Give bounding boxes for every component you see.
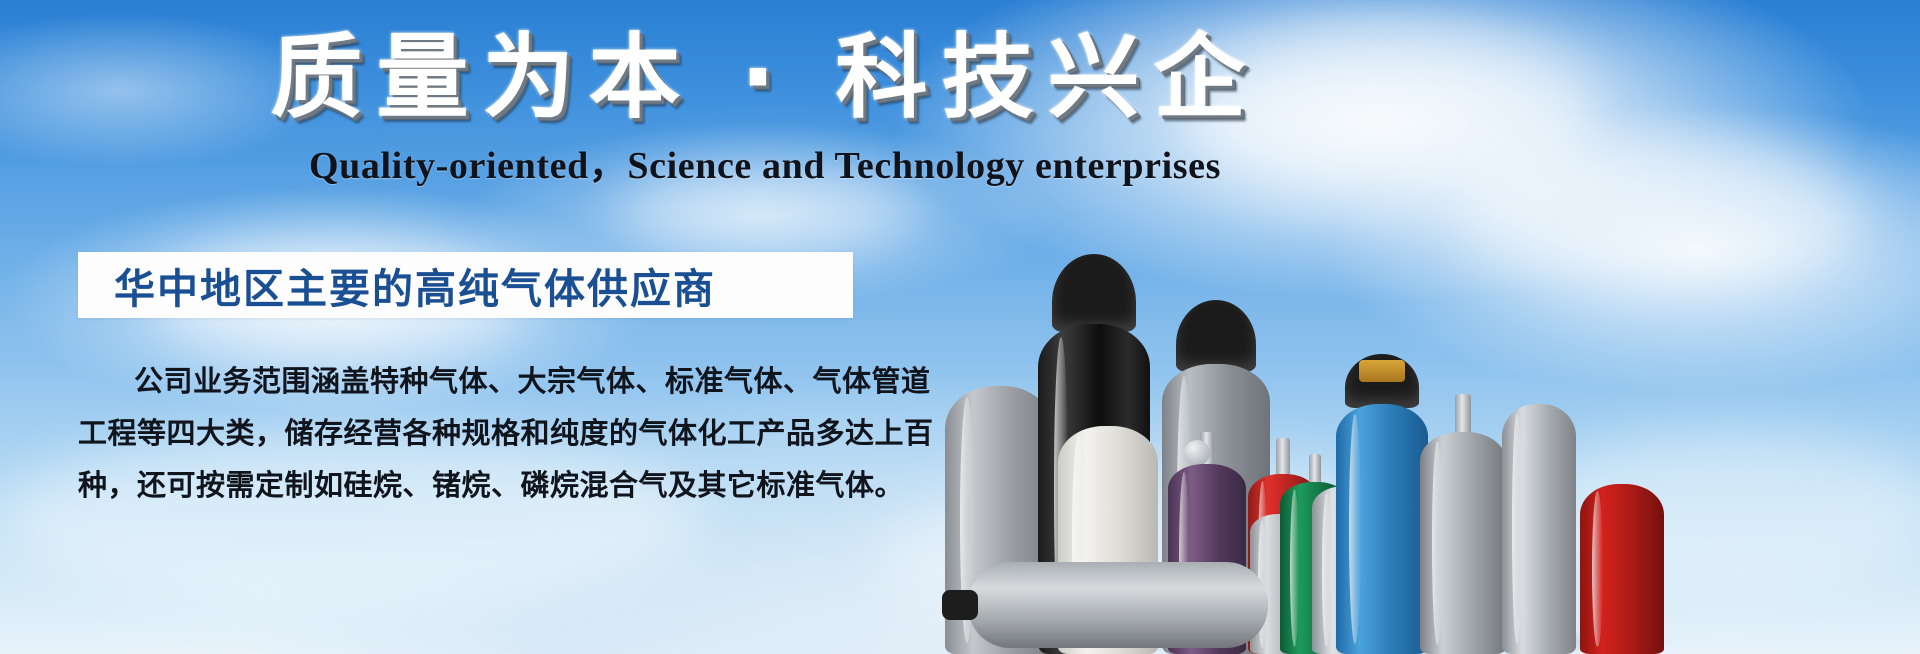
gas-cylinder-photo-group [950, 0, 1920, 654]
description-line: 种，还可按需定制如硅烷、锗烷、磷烷混合气及其它标准气体。 [78, 459, 868, 511]
red-short-cylinder [1580, 484, 1664, 654]
description-line: 公司业务范围涵盖特种气体、大宗气体、标准气体、气体管道 [78, 355, 868, 407]
description-line: 工程等四大类，储存经营各种规格和纯度的气体化工产品多达上百 [78, 407, 868, 459]
cylinder-cap-guard [1176, 300, 1256, 372]
aluminum-tall-cylinder [1502, 404, 1576, 654]
lying-cylinder [968, 562, 1268, 648]
description-paragraph: 公司业务范围涵盖特种气体、大宗气体、标准气体、气体管道 工程等四大类，储存经营各… [78, 355, 868, 511]
callout-box: 华中地区主要的高纯气体供应商 [78, 252, 853, 318]
cylinder-cap-guard [1052, 254, 1136, 332]
cylinder-brass-valve [1359, 360, 1405, 382]
promotional-banner: 质量为本 · 科技兴企 Quality-oriented，Science and… [0, 0, 1920, 654]
blue-tall-cylinder [1336, 324, 1428, 654]
callout-text: 华中地区主要的高纯气体供应商 [78, 255, 716, 315]
cylinder-knob [1184, 440, 1210, 466]
steel-mid-cylinder [1420, 362, 1506, 654]
